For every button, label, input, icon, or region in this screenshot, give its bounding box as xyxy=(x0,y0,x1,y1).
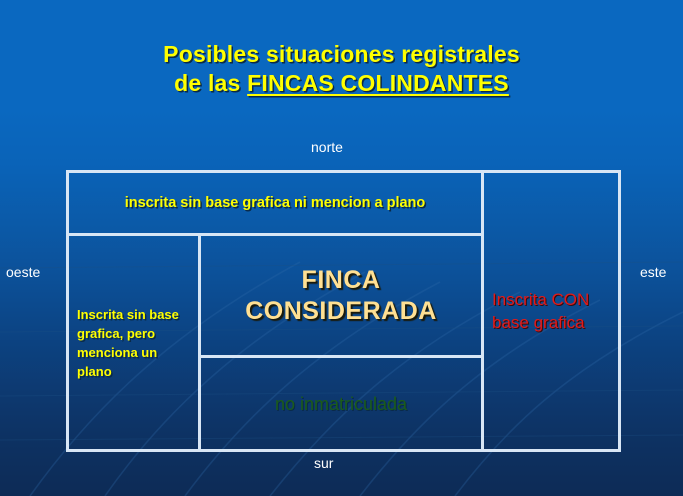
parcel-cell-south-label: no inmatriculada xyxy=(275,392,407,416)
parcel-cell-east-label: Inscrita CON base grafica xyxy=(492,288,612,334)
parcel-cell-considered: FINCA CONSIDERADA xyxy=(201,236,481,355)
parcel-cell-considered-label: FINCA CONSIDERADA xyxy=(209,265,473,327)
compass-label-south: sur xyxy=(314,455,333,471)
parcel-diagram: inscrita sin base grafica ni mencion a p… xyxy=(66,170,621,452)
parcel-cell-east: Inscrita CON base grafica xyxy=(484,173,618,449)
presentation-slide: Posibles situaciones registrales de las … xyxy=(0,0,683,496)
parcel-cell-south: no inmatriculada xyxy=(201,358,481,449)
compass-label-west: oeste xyxy=(6,264,40,280)
parcel-cell-west-label: Inscrita sin base grafica, pero menciona… xyxy=(77,305,192,381)
parcel-cell-west: Inscrita sin base grafica, pero menciona… xyxy=(69,236,198,449)
title-line-1: Posibles situaciones registrales xyxy=(0,40,683,69)
parcel-cell-north-label: inscrita sin base grafica ni mencion a p… xyxy=(125,194,426,213)
title-line-2: de las FINCAS COLINDANTES xyxy=(0,69,683,98)
slide-title: Posibles situaciones registrales de las … xyxy=(0,40,683,98)
title-line-2-prefix: de las xyxy=(174,70,247,96)
title-line-2-emphasis: FINCAS COLINDANTES xyxy=(247,70,509,96)
compass-label-north: norte xyxy=(311,139,343,155)
parcel-cell-north: inscrita sin base grafica ni mencion a p… xyxy=(69,173,481,233)
compass-label-east: este xyxy=(640,264,666,280)
